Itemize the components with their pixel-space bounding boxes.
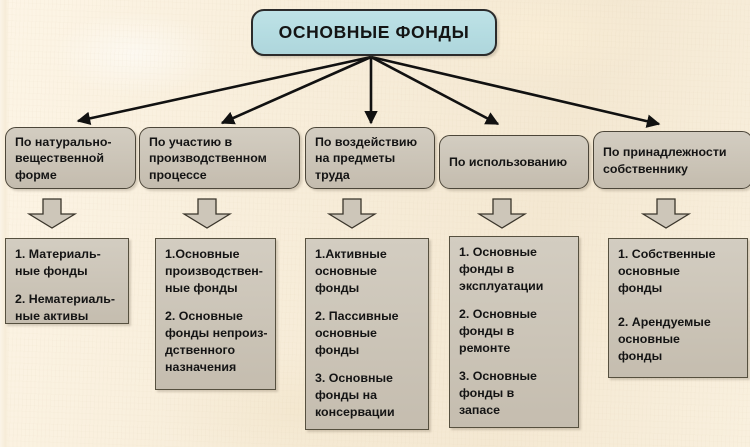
list-item: 3. Основные фонды в запасе	[459, 368, 572, 419]
list-item: 2. Нематериаль- ные активы	[15, 291, 122, 324]
list-item: 2. Пассивные основные фонды	[315, 308, 422, 359]
category-list-1: 1. Материаль- ные фонды 2. Нематериаль- …	[5, 238, 129, 324]
criterion-line: По использованию	[449, 154, 581, 171]
criterion-line: производственном	[149, 150, 292, 167]
criterion-line: собственнику	[603, 161, 745, 178]
block-arrow-1	[27, 198, 77, 230]
arrow-to-criterion-4	[371, 57, 498, 124]
criterion-line: вещественной	[15, 150, 128, 167]
block-arrow-2	[182, 198, 232, 230]
list-item: 1. Основные фонды в эксплуатации	[459, 244, 572, 295]
arrow-to-criterion-1	[78, 57, 371, 121]
criterion-line: форме	[15, 167, 128, 184]
list-item: 3. Основные фонды на консервации	[315, 370, 422, 421]
criterion-box-1: По натурально- вещественной форме	[5, 127, 136, 189]
criterion-line: По принадлежности	[603, 144, 745, 161]
root-node: ОСНОВНЫЕ ФОНДЫ	[251, 9, 497, 56]
diagram-canvas: ОСНОВНЫЕ ФОНДЫ По натурально- вещественн…	[0, 0, 750, 447]
category-list-5: 1. Собственные основные фонды 2. Арендуе…	[608, 238, 748, 378]
page-title: ОСНОВНЫЕ ФОНДЫ	[279, 22, 470, 43]
criterion-line: процессе	[149, 167, 292, 184]
block-arrow-5	[641, 198, 691, 230]
criterion-line: труда	[315, 167, 427, 184]
list-item: 2. Основные фонды непроиз- дственного на…	[165, 308, 269, 376]
arrow-to-criterion-5	[371, 57, 659, 124]
criterion-line: По натурально-	[15, 134, 128, 151]
category-list-3: 1.Активные основные фонды 2. Пассивные о…	[305, 238, 429, 430]
list-item: 1.Основные производствен- ные фонды	[165, 246, 269, 297]
criterion-box-4: По использованию	[439, 135, 589, 189]
criterion-line: По воздействию	[315, 134, 427, 151]
category-list-2: 1.Основные производствен- ные фонды 2. О…	[155, 238, 276, 390]
criterion-box-5: По принадлежности собственнику	[593, 131, 750, 189]
arrow-to-criterion-2	[222, 57, 371, 123]
block-arrow-3	[327, 198, 377, 230]
block-arrow-4	[477, 198, 527, 230]
criterion-box-3: По воздействию на предметы труда	[305, 127, 435, 189]
list-item: 1. Материаль- ные фонды	[15, 246, 122, 280]
criterion-line: на предметы	[315, 150, 427, 167]
list-item: 1. Собственные основные фонды	[618, 246, 741, 297]
list-item: 1.Активные основные фонды	[315, 246, 422, 297]
criterion-box-2: По участию в производственном процессе	[139, 127, 300, 189]
category-list-4: 1. Основные фонды в эксплуатации 2. Осно…	[449, 236, 579, 428]
list-item: 2. Основные фонды в ремонте	[459, 306, 572, 357]
criterion-line: По участию в	[149, 134, 292, 151]
list-item: 2. Арендуемые основные фонды	[618, 314, 741, 365]
